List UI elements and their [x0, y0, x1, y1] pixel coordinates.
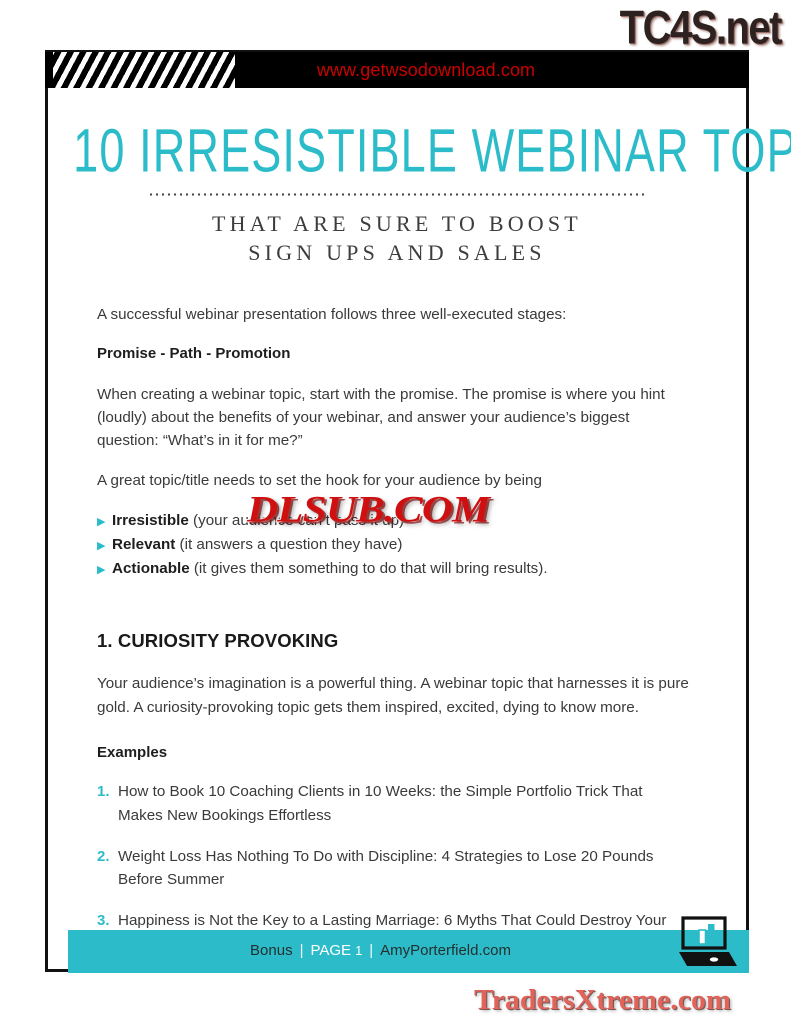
footer-separator-2: | — [369, 942, 373, 959]
watermark-bottom: TradersXtreme.com — [474, 984, 731, 1017]
bullet-term: Relevant — [112, 536, 175, 553]
section-paragraph: Your audience’s imagination is a powerfu… — [97, 672, 689, 718]
header-band: www.getwsodownload.com — [45, 52, 749, 88]
dotted-divider — [148, 193, 646, 196]
footer-bar: Bonus|PAGE 1|AmyPorterfield.com — [68, 930, 749, 972]
page-title: 10 IRRESISTIBLE WEBINAR TOPICS — [73, 122, 721, 183]
bullet-rest: (it gives them something to do that will… — [190, 560, 548, 577]
list-number: 2. — [97, 845, 118, 868]
list-item: 2. Weight Loss Has Nothing To Do with Di… — [97, 845, 689, 892]
title-block: 10 IRRESISTIBLE WEBINAR TOPICS THAT ARE … — [45, 122, 749, 267]
watermark-dlsub: DLSUB.COM — [247, 489, 489, 531]
promise-paragraph: When creating a webinar topic, start wit… — [97, 383, 689, 452]
footer-bonus-label: Bonus — [250, 942, 293, 959]
subtitle-line-1: THAT ARE SURE TO BOOST — [45, 209, 749, 238]
document-page: www.getwsodownload.com TC4S.net 10 IRRES… — [0, 0, 791, 1024]
page-subtitle: THAT ARE SURE TO BOOST SIGN UPS AND SALE… — [45, 209, 749, 267]
triangle-bullet-icon: ▶ — [97, 514, 112, 531]
bullet-text: Relevant (it answers a question they hav… — [112, 533, 689, 557]
stages-line: Promise - Path - Promotion — [97, 343, 689, 366]
triangle-bullet-icon: ▶ — [97, 538, 112, 555]
bullet-term: Irresistible — [112, 512, 189, 529]
list-item: ▶ Relevant (it answers a question they h… — [97, 533, 689, 557]
list-number: 1. — [97, 780, 118, 803]
list-item: 1. How to Book 10 Coaching Clients in 10… — [97, 780, 689, 827]
laptop-chart-icon — [667, 914, 741, 972]
footer-page-word: PAGE — [310, 942, 351, 959]
section-heading: 1. CURIOSITY PROVOKING — [97, 627, 689, 655]
document-body: A successful webinar presentation follow… — [97, 303, 689, 973]
bullet-rest: (it answers a question they have) — [175, 536, 402, 553]
footer-page-number: 1 — [355, 944, 362, 958]
footer-site-link[interactable]: AmyPorterfield.com — [380, 942, 511, 959]
list-item-text: Weight Loss Has Nothing To Do with Disci… — [118, 845, 689, 892]
list-item-text: How to Book 10 Coaching Clients in 10 We… — [118, 780, 689, 827]
list-item: ▶ Actionable (it gives them something to… — [97, 557, 689, 581]
bullet-text: Actionable (it gives them something to d… — [112, 557, 689, 581]
watermark-top-right: TC4S.net — [620, 2, 781, 55]
list-number: 3. — [97, 909, 118, 932]
triangle-bullet-icon: ▶ — [97, 562, 112, 579]
header-url-watermark: www.getwsodownload.com — [45, 52, 749, 88]
subtitle-line-2: SIGN UPS AND SALES — [45, 238, 749, 267]
bullet-term: Actionable — [112, 560, 190, 577]
footer-separator-1: | — [300, 942, 304, 959]
examples-label: Examples — [97, 742, 689, 765]
intro-paragraph: A successful webinar presentation follow… — [97, 303, 689, 326]
footer-text: Bonus|PAGE 1|AmyPorterfield.com — [68, 930, 749, 972]
